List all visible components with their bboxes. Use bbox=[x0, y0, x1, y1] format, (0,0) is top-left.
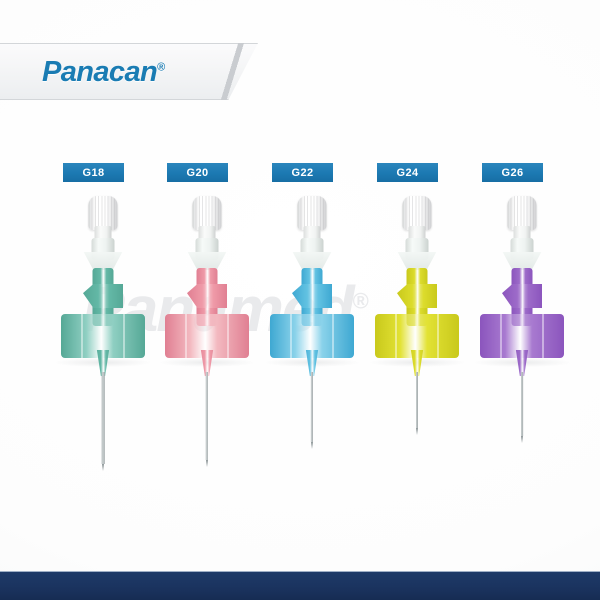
cannula-violet bbox=[462, 190, 582, 480]
cannula-yellow bbox=[357, 190, 477, 480]
brand-logo-text: Panacan bbox=[42, 56, 157, 88]
product-image-canvas: Panacan® Panamed® G18G20G22G24G26 bbox=[0, 0, 600, 600]
gauge-badge-g20: G20 bbox=[167, 163, 228, 182]
needle-tip bbox=[416, 428, 418, 435]
needle-shaft bbox=[311, 372, 313, 442]
gauge-badge-label: G24 bbox=[397, 167, 419, 179]
cannula-blue bbox=[252, 190, 372, 480]
footer-bar bbox=[0, 572, 600, 600]
gauge-badge-label: G22 bbox=[292, 167, 314, 179]
luer-cap bbox=[298, 196, 327, 230]
needle-shaft bbox=[102, 372, 105, 464]
luer-cap bbox=[193, 196, 222, 230]
injection-port-tab bbox=[83, 284, 123, 308]
cannula-pink bbox=[147, 190, 267, 480]
brand-logo: Panacan® bbox=[42, 56, 165, 89]
injection-port-tab bbox=[397, 284, 437, 308]
injection-port-tab bbox=[292, 284, 332, 308]
injection-port-tab bbox=[502, 284, 542, 308]
gauge-badge-g22: G22 bbox=[272, 163, 333, 182]
needle-tip bbox=[206, 460, 208, 467]
needle-tip bbox=[311, 442, 313, 449]
gauge-badge-g18: G18 bbox=[63, 163, 124, 182]
gauge-badge-label: G18 bbox=[83, 167, 105, 179]
injection-port-tab bbox=[187, 284, 227, 308]
needle-shaft bbox=[206, 372, 208, 460]
cannula-green bbox=[43, 190, 163, 480]
needle-tip bbox=[102, 464, 104, 471]
needle-tip bbox=[521, 436, 523, 443]
luer-cap bbox=[403, 196, 432, 230]
luer-cap bbox=[89, 196, 118, 230]
luer-cap bbox=[508, 196, 537, 230]
registered-trademark-icon: ® bbox=[157, 61, 165, 73]
gauge-badge-label: G26 bbox=[502, 167, 524, 179]
gauge-badge-g24: G24 bbox=[377, 163, 438, 182]
needle-shaft bbox=[416, 372, 418, 428]
gauge-badge-g26: G26 bbox=[482, 163, 543, 182]
needle-shaft bbox=[521, 372, 523, 436]
gauge-badge-label: G20 bbox=[187, 167, 209, 179]
